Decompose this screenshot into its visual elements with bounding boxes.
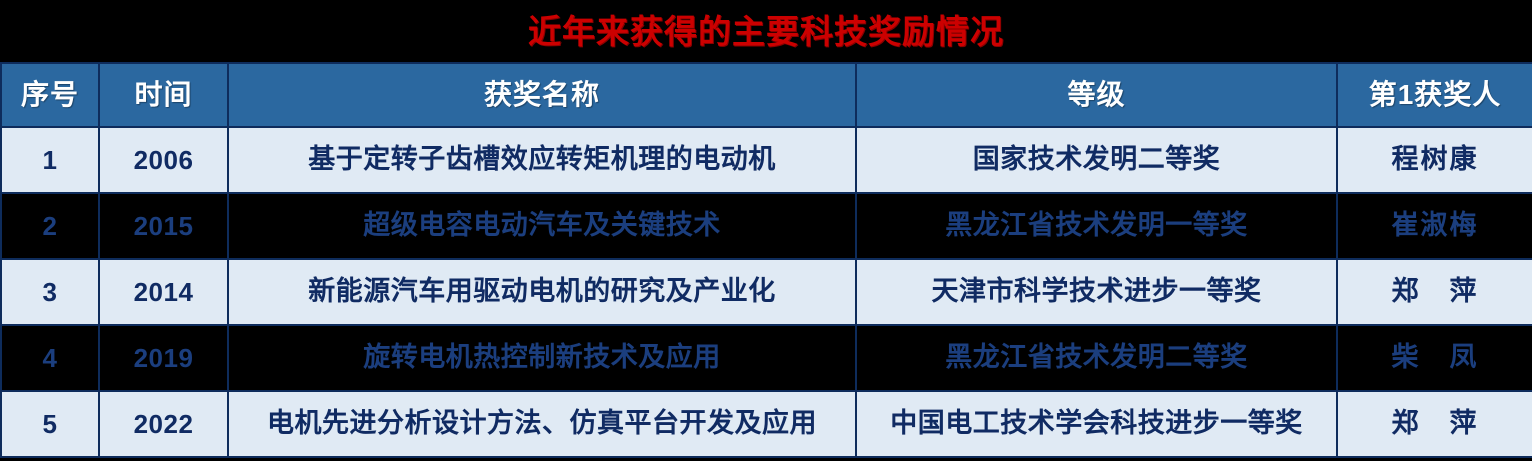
cell-level: 天津市科学技术进步一等奖 [856,259,1337,325]
column-header-name: 获奖名称 [228,63,856,127]
cell-index: 1 [1,127,99,193]
cell-level: 中国电工技术学会科技进步一等奖 [856,391,1337,457]
table-header-row: 序号 时间 获奖名称 等级 第1获奖人 [1,63,1532,127]
table-row: 3 2014 新能源汽车用驱动电机的研究及产业化 天津市科学技术进步一等奖 郑 … [1,259,1532,325]
cell-name: 旋转电机热控制新技术及应用 [228,325,856,391]
cell-person: 崔淑梅 [1337,193,1532,259]
cell-level: 黑龙江省技术发明二等奖 [856,325,1337,391]
cell-person: 柴 凤 [1337,325,1532,391]
cell-name: 超级电容电动汽车及关键技术 [228,193,856,259]
cell-year: 2022 [99,391,228,457]
column-header-year: 时间 [99,63,228,127]
cell-person: 郑 萍 [1337,259,1532,325]
cell-index: 4 [1,325,99,391]
cell-index: 5 [1,391,99,457]
table-row: 4 2019 旋转电机热控制新技术及应用 黑龙江省技术发明二等奖 柴 凤 [1,325,1532,391]
cell-year: 2015 [99,193,228,259]
table-row: 5 2022 电机先进分析设计方法、仿真平台开发及应用 中国电工技术学会科技进步… [1,391,1532,457]
cell-person: 程树康 [1337,127,1532,193]
column-header-person: 第1获奖人 [1337,63,1532,127]
cell-level: 国家技术发明二等奖 [856,127,1337,193]
table-body: 1 2006 基于定转子齿槽效应转矩机理的电动机 国家技术发明二等奖 程树康 2… [1,127,1532,457]
awards-table: 序号 时间 获奖名称 等级 第1获奖人 1 2006 基于定转子齿槽效应转矩机理… [0,62,1532,458]
cell-name: 电机先进分析设计方法、仿真平台开发及应用 [228,391,856,457]
table-header: 序号 时间 获奖名称 等级 第1获奖人 [1,63,1532,127]
cell-name: 基于定转子齿槽效应转矩机理的电动机 [228,127,856,193]
table-row: 2 2015 超级电容电动汽车及关键技术 黑龙江省技术发明一等奖 崔淑梅 [1,193,1532,259]
slide-root: 近年来获得的主要科技奖励情况 序号 时间 获奖名称 等级 第1获奖人 1 200… [0,0,1532,461]
cell-index: 3 [1,259,99,325]
cell-name: 新能源汽车用驱动电机的研究及产业化 [228,259,856,325]
cell-year: 2014 [99,259,228,325]
page-title: 近年来获得的主要科技奖励情况 [528,15,1004,48]
column-header-level: 等级 [856,63,1337,127]
cell-index: 2 [1,193,99,259]
title-bar: 近年来获得的主要科技奖励情况 [0,0,1532,62]
column-header-index: 序号 [1,63,99,127]
cell-year: 2006 [99,127,228,193]
table-row: 1 2006 基于定转子齿槽效应转矩机理的电动机 国家技术发明二等奖 程树康 [1,127,1532,193]
cell-person: 郑 萍 [1337,391,1532,457]
cell-level: 黑龙江省技术发明一等奖 [856,193,1337,259]
cell-year: 2019 [99,325,228,391]
